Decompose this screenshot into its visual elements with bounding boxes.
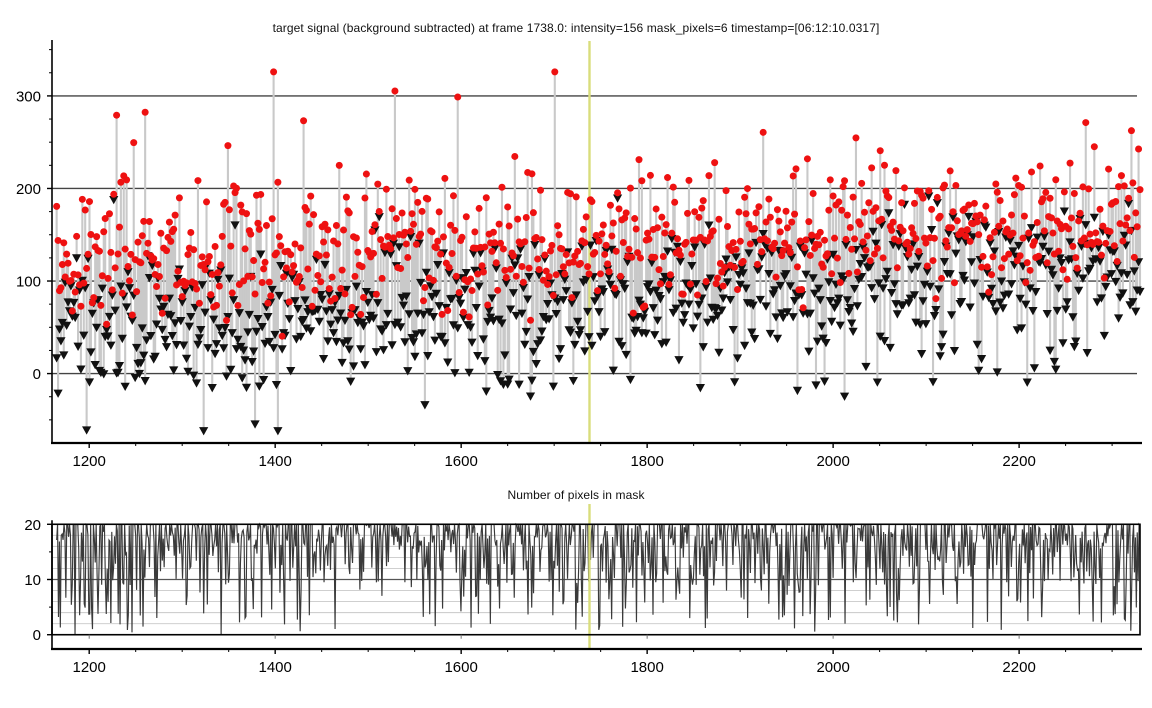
svg-text:2200: 2200	[1002, 453, 1035, 470]
svg-text:2200: 2200	[1002, 659, 1035, 676]
svg-text:20: 20	[24, 517, 41, 534]
svg-text:300: 300	[16, 88, 41, 105]
svg-text:1400: 1400	[258, 659, 291, 676]
lower-plot-area[interactable]: 12001400160018002000220001020	[0, 498, 1152, 708]
svg-text:1800: 1800	[630, 659, 663, 676]
main-plot-area[interactable]: 1200140016001800200022000100200300	[0, 0, 1152, 470]
svg-text:2000: 2000	[816, 659, 849, 676]
svg-text:1400: 1400	[258, 453, 291, 470]
main-stem-lines	[57, 72, 1140, 431]
svg-text:0: 0	[33, 366, 41, 383]
lower-axis-spines	[47, 520, 1142, 654]
svg-text:1800: 1800	[630, 453, 663, 470]
svg-text:0: 0	[33, 627, 41, 644]
svg-text:2000: 2000	[816, 453, 849, 470]
svg-text:1600: 1600	[444, 453, 477, 470]
svg-text:10: 10	[24, 572, 41, 589]
svg-text:1200: 1200	[73, 453, 106, 470]
figure-canvas: target signal (background subtracted) at…	[0, 0, 1152, 691]
svg-text:200: 200	[16, 181, 41, 198]
svg-text:1600: 1600	[444, 659, 477, 676]
svg-text:1200: 1200	[73, 659, 106, 676]
svg-text:100: 100	[16, 274, 41, 291]
